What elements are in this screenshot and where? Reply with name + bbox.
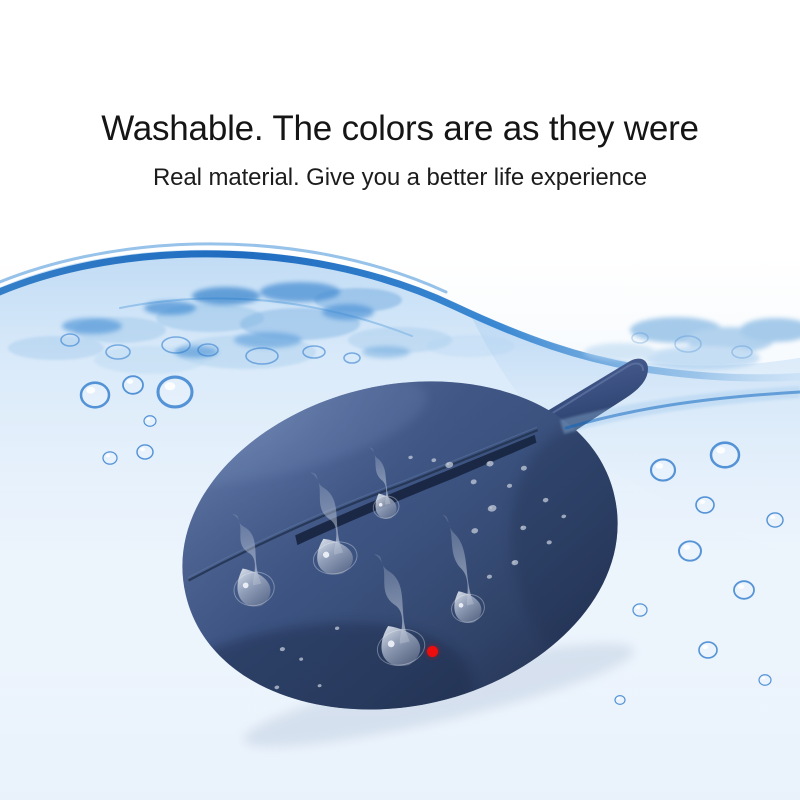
water-bubble	[144, 416, 156, 427]
water-bubble	[767, 513, 783, 527]
headline-text: Washable. The colors are as they were	[0, 106, 800, 152]
water-bubble	[633, 604, 647, 616]
water-bubble	[615, 696, 625, 705]
water-bubble	[103, 452, 117, 464]
water-bubble	[679, 541, 701, 560]
water-bubble	[158, 377, 192, 407]
product-banner: Washable. The colors are as they were Re…	[0, 0, 800, 800]
charging-led-indicator	[427, 646, 438, 657]
water-bubble	[696, 497, 714, 513]
water-bubble	[711, 443, 739, 468]
water-bubble	[651, 459, 675, 480]
water-bubble	[759, 675, 771, 686]
water-bubble	[699, 642, 717, 658]
water-bubble	[81, 383, 109, 408]
water-bubble	[137, 445, 153, 459]
water-bubble	[123, 376, 143, 394]
water-bubble	[734, 581, 754, 599]
headline-block: Washable. The colors are as they were Re…	[0, 106, 800, 194]
subheadline-text: Real material. Give you a better life ex…	[0, 162, 800, 194]
